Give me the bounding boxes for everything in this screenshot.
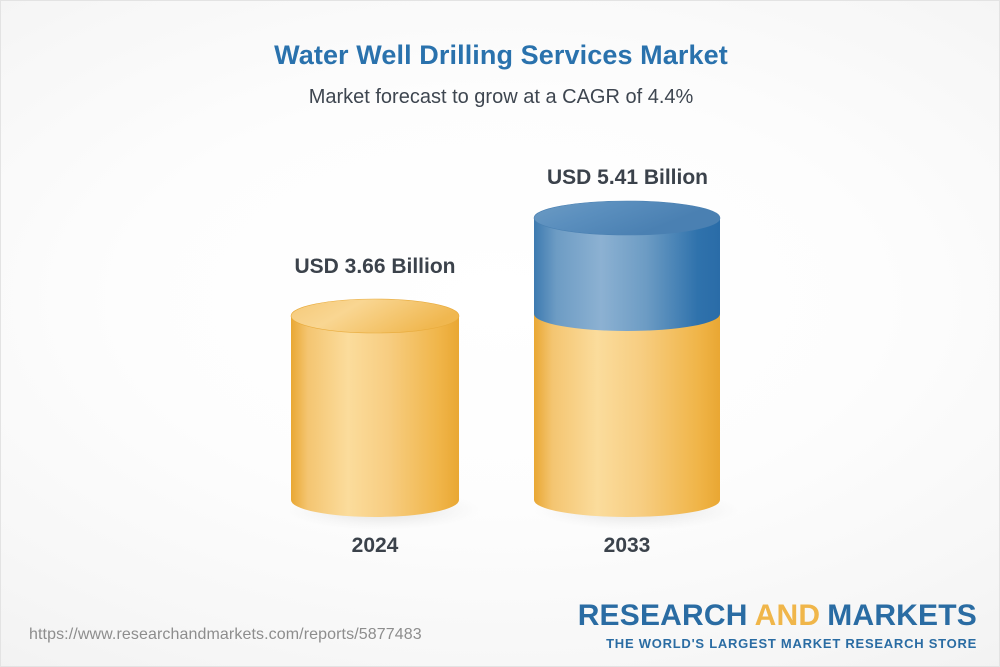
report-url[interactable]: https://www.researchandmarkets.com/repor… (29, 626, 422, 644)
logo-word-and: AND (755, 599, 821, 632)
bar-2024-value-label: USD 3.66 Billion (275, 255, 475, 279)
bar-2024 (288, 299, 480, 530)
bar-2033-category-label: 2033 (547, 534, 707, 558)
infographic-card: Water Well Drilling Services Market Mark… (0, 0, 1000, 667)
logo-wordmark: RESEARCHANDMARKETS (578, 601, 977, 631)
chart-svg (1, 1, 1000, 667)
bar-2024-body (291, 316, 459, 517)
bar-2033-value-label: USD 5.41 Billion (525, 166, 730, 190)
logo-tagline: THE WORLD'S LARGEST MARKET RESEARCH STOR… (578, 637, 977, 650)
logo-word-markets: MARKETS (827, 599, 977, 632)
bar-2033-gold-segment (534, 314, 720, 517)
bar-2033 (534, 201, 738, 530)
logo-word-research: RESEARCH (578, 599, 748, 632)
research-and-markets-logo[interactable]: RESEARCHANDMARKETS THE WORLD'S LARGEST M… (578, 601, 977, 650)
bar-2024-top-cap (291, 299, 459, 333)
bar-2033-top-cap (534, 201, 720, 235)
cylinder-bar-chart: USD 3.66 Billion USD 5.41 Billion 2024 2… (1, 1, 1000, 667)
bar-2024-category-label: 2024 (295, 534, 455, 558)
